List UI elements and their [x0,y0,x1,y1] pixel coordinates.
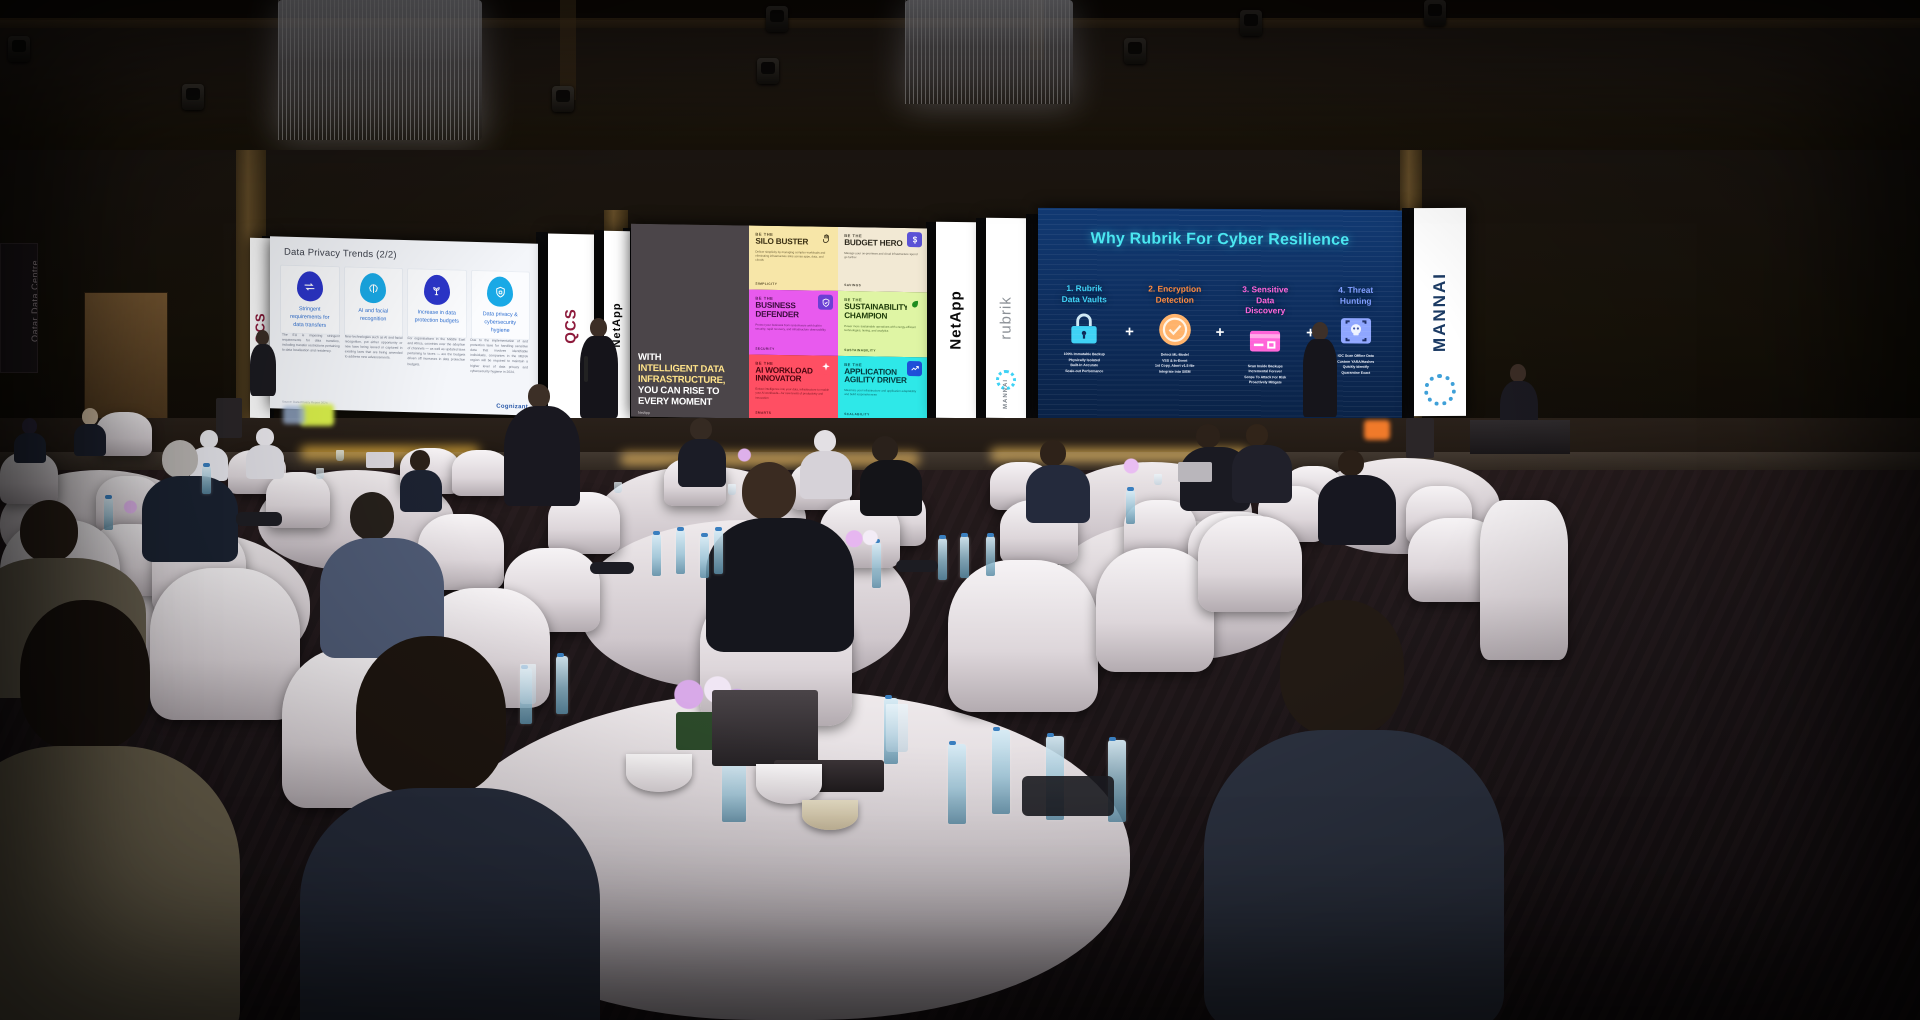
venue-signage: Qatar Data Centre [0,243,38,373]
privacy-body-row: The EU is imposing stringent requirement… [282,333,528,376]
netapp-tile-ai-workload-innovator: BE THE AI WORKLOAD INNOVATOR Extract int… [749,354,838,420]
stage-spotlight-green [300,404,334,426]
table-gift-box [712,690,818,766]
serving-bowl [626,754,692,792]
water-bottle [992,730,1010,814]
panel-bezel [1402,208,1414,420]
ceiling-spotlight [182,84,204,110]
card-scan-icon [1246,325,1284,357]
plant-icon [424,275,450,306]
ceiling-spotlight [757,58,779,84]
rubrik-column-caption: Scan Inside Backups Incremental Forever … [1233,364,1298,387]
coffee-cup [802,800,858,830]
netapp-tile-desc: Deliver simplicity by managing complex w… [755,249,832,263]
privacy-card: Data privacy & cybersecurity hygiene [471,270,531,341]
water-bottle [104,498,113,530]
water-bottle [1126,490,1135,524]
banquet-chair [150,568,300,720]
plus-separator: + [1117,283,1143,340]
brand-label-mannai: MANNAI [1003,379,1009,409]
ceiling-spotlight [1124,38,1146,64]
netapp-tile-desc: Power more sustainable operations with e… [844,324,921,334]
brand-label-qcs: QCS [563,308,580,344]
rubrik-column-row: 1. Rubrik Data Vaults 100% Immutable Bac… [1052,283,1388,387]
privacy-body-text: The EU is imposing stringent requirement… [282,333,340,370]
netapp-tile-desc: Protect your business from ransomware wi… [755,322,832,332]
chandelier-left [278,0,482,140]
stage-spotlight-blue [283,406,305,424]
clock-check-icon [1156,314,1194,346]
rubrik-column-caption: Detect ML-Model VSS & In-Event 1st Copy,… [1143,353,1208,376]
headphones [590,562,634,574]
privacy-body-text: New technologies such as AI and facial r… [345,334,403,371]
rubrik-column-data-vaults: 1. Rubrik Data Vaults 100% Immutable Bac… [1052,283,1117,375]
privacy-card: AI and facial recognition [344,266,404,337]
water-bottle [714,530,723,574]
panel-bezel [1026,214,1038,420]
water-bottle [652,534,661,576]
speaker-cabinet [216,398,242,438]
plus-separator: + [1207,284,1233,341]
ceiling-spotlight [1240,10,1262,36]
drinking-glass [722,762,746,822]
water-bottle [960,536,969,578]
netapp-tile-grid: BE THE SILO BUSTER Deliver simplicity by… [749,226,927,422]
flower-centerpiece [730,446,766,464]
screen-netapp-rise-to-every-moment: WITH INTELLIGENT DATA INFRASTRUCTURE, YO… [631,224,927,422]
microphone [584,356,588,382]
water-bottle [202,466,211,494]
privacy-card-label: Data privacy & cybersecurity hygiene [474,310,528,336]
brand-label-rubrik: rubrik [998,296,1015,340]
shield-lock-icon [487,276,513,307]
privacy-body-text: For organisations in the Middle East and… [408,336,466,373]
netapp-headline-highlight: INTELLIGENT DATA INFRASTRUCTURE, [638,363,725,386]
netapp-tile-tag: SECURITY [755,346,774,350]
rubrik-column-encryption-detection: 2. Encryption Detection Detect ML-Model … [1143,284,1208,376]
netapp-headline-rest: YOU CAN RISE TO EVERY MOMENT [638,385,719,408]
privacy-card: Increase in data protection budgets [407,268,467,339]
privacy-card-label: Increase in data protection budgets [410,308,464,326]
privacy-body-text: Due to the implementation of and protect… [470,338,528,375]
padlock-icon [1065,313,1103,345]
screen-why-rubrik-cyber-resilience: Why Rubrik For Cyber Resilience 1. Rubri… [1038,208,1402,422]
rubrik-column-sensitive-data-discovery: 3. Sensitive Data Discovery Scan Inside … [1233,284,1298,386]
mannai-logo-icon [1424,374,1456,406]
brand-label-mannai: MANNAI [1430,272,1450,352]
venue-signage-text: Qatar Data Centre [30,243,38,361]
netapp-tile-desc: Extract intelligence into your data, inf… [755,387,832,401]
headphones [236,512,282,526]
drinking-glass [316,468,324,479]
banquet-chair [1480,500,1568,660]
transfer-icon [297,271,323,302]
threat-scan-icon [1337,315,1375,347]
rubrik-slide-title: Why Rubrik For Cyber Resilience [1038,230,1402,250]
netapp-tile-budget-hero: BE THE BUDGET HERO Manage your on-premis… [838,227,927,293]
privacy-slide-title: Data Privacy Trends (2/2) [284,247,397,261]
panel-bezel [976,218,986,420]
netapp-headline: WITH INTELLIGENT DATA INFRASTRUCTURE, YO… [638,353,743,409]
netapp-headline-panel: WITH INTELLIGENT DATA INFRASTRUCTURE, YO… [631,224,749,419]
ceiling-spotlight [1424,0,1446,26]
rubrik-column-heading: 3. Sensitive Data Discovery [1233,284,1298,316]
water-bottle [556,656,568,714]
headphones [896,560,938,572]
conference-hall-photo: Qatar Data Centre QCS Data Privacy Trend… [0,0,1920,1020]
netapp-tile-sustainability-champion: BE THE SUSTAINABILITY CHAMPION Power mor… [838,291,927,357]
headphones [1022,776,1114,816]
rubrik-column-heading: 2. Encryption Detection [1143,284,1208,305]
water-bottle [676,530,685,574]
rubrik-column-caption: 100% Immutable Backup Physically Isolate… [1052,352,1117,375]
netapp-tile-application-agility-driver: BE THE APPLICATION AGILITY DRIVER Maximi… [838,356,927,422]
flower-centerpiece [116,498,152,516]
privacy-card-row: Stringent requirements for data transfer… [280,265,530,341]
netapp-slide-brand: NetApp [638,411,650,415]
privacy-card: Stringent requirements for data transfer… [280,265,340,336]
rubrik-column-heading: 4. Threat Hunting [1324,285,1389,306]
brain-icon [360,273,386,304]
brand-panel-rubrik: rubrik MANNAI [986,218,1026,418]
drinking-glass [520,664,536,704]
water-bottle [986,536,995,576]
netapp-tile-desc: Manage your on-premises and cloud infras… [844,251,921,261]
brand-panel-mannai: MANNAI [1414,208,1466,416]
ceiling-spotlight [8,36,30,62]
speaker-cabinet [1406,418,1434,458]
netapp-tile-desc: Maximize your infrastructure and applica… [844,388,921,398]
drinking-glass [614,482,622,493]
water-bottle [938,538,947,580]
ceiling-beam [560,0,576,100]
netapp-tile-tag: SMARTS [755,411,771,415]
water-bottle [700,536,709,578]
brand-panel-netapp-2: NetApp [936,222,976,418]
panel-bezel [926,222,936,420]
netapp-headline-plain: WITH [638,352,661,363]
ceiling-spotlight [552,86,574,112]
laptop [366,452,394,468]
netapp-tile-tag: SAVINGS [844,283,861,287]
netapp-tile-silo-buster: BE THE SILO BUSTER Deliver simplicity by… [749,226,838,292]
banquet-chair [452,450,510,496]
screen-data-privacy-trends: Data Privacy Trends (2/2) Stringent requ… [270,236,538,415]
brand-label-netapp: NetApp [948,290,965,350]
water-bottle [948,744,966,824]
serving-bowl [756,764,822,804]
ceiling-spotlight [766,6,788,32]
flower-centerpiece [838,528,884,552]
flower-centerpiece [1116,456,1154,476]
privacy-card-label: AI and facial recognition [347,306,401,324]
drinking-glass [886,704,908,752]
netapp-tile-tag: SUSTAINABILITY [844,348,876,352]
drinking-glass [1154,474,1162,485]
banquet-chair [1096,548,1214,672]
privacy-card-label: Stringent requirements for data transfer… [283,305,337,331]
drinking-glass [336,450,344,461]
stage-spotlight-orange [1364,420,1390,440]
netapp-tile-business-defender: BE THE BUSINESS DEFENDER Protect your bu… [749,290,838,356]
banquet-chair [1198,516,1302,612]
banquet-chair [948,560,1098,712]
netapp-tile-tag: SCALABILITY [844,412,869,416]
drinking-glass [728,484,736,495]
av-desk [1470,420,1570,454]
rubrik-column-heading: 1. Rubrik Data Vaults [1052,283,1117,304]
netapp-tile-tag: SIMPLICITY [755,282,777,286]
laptop [1178,462,1212,482]
chandelier-right [905,0,1073,104]
